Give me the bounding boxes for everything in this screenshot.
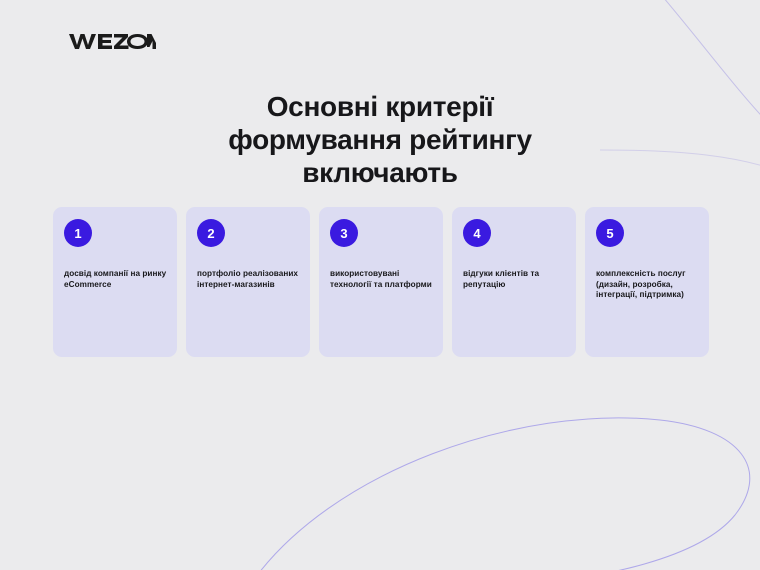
criteria-card-number-badge: 2 — [197, 219, 225, 247]
criteria-card-number-badge: 5 — [596, 219, 624, 247]
criteria-card[interactable]: 1 досвід компанії на ринку eCommerce — [53, 207, 177, 357]
criteria-card-number-badge: 4 — [463, 219, 491, 247]
slide-title-line-3: включають — [0, 156, 760, 189]
criteria-card-text: комплексність послуг (дизайн, розробка, … — [596, 269, 700, 301]
presentation-slide: Основні критерії формування рейтингу вкл… — [0, 0, 760, 570]
criteria-card-number-badge: 3 — [330, 219, 358, 247]
criteria-card-text: портфоліо реалізованих інтернет-магазині… — [197, 269, 301, 290]
criteria-card-text: досвід компанії на ринку eCommerce — [64, 269, 168, 290]
wezom-logo — [68, 28, 156, 54]
wezom-logo-mark — [68, 30, 156, 52]
slide-title-line-2: формування рейтингу — [0, 123, 760, 156]
slide-title: Основні критерії формування рейтингу вкл… — [0, 90, 760, 189]
criteria-card[interactable]: 4 відгуки клієнтів та репутацію — [452, 207, 576, 357]
criteria-card-number-badge: 1 — [64, 219, 92, 247]
slide-title-line-1: Основні критерії — [0, 90, 760, 123]
criteria-card-text: відгуки клієнтів та репутацію — [463, 269, 567, 290]
criteria-card-text: використовувані технології та платформи — [330, 269, 434, 290]
criteria-card[interactable]: 3 використовувані технології та платформ… — [319, 207, 443, 357]
criteria-card[interactable]: 5 комплексність послуг (дизайн, розробка… — [585, 207, 709, 357]
criteria-card[interactable]: 2 портфоліо реалізованих інтернет-магази… — [186, 207, 310, 357]
criteria-card-list: 1 досвід компанії на ринку eCommerce 2 п… — [53, 207, 715, 357]
curve-bottom-ellipse — [250, 418, 750, 570]
